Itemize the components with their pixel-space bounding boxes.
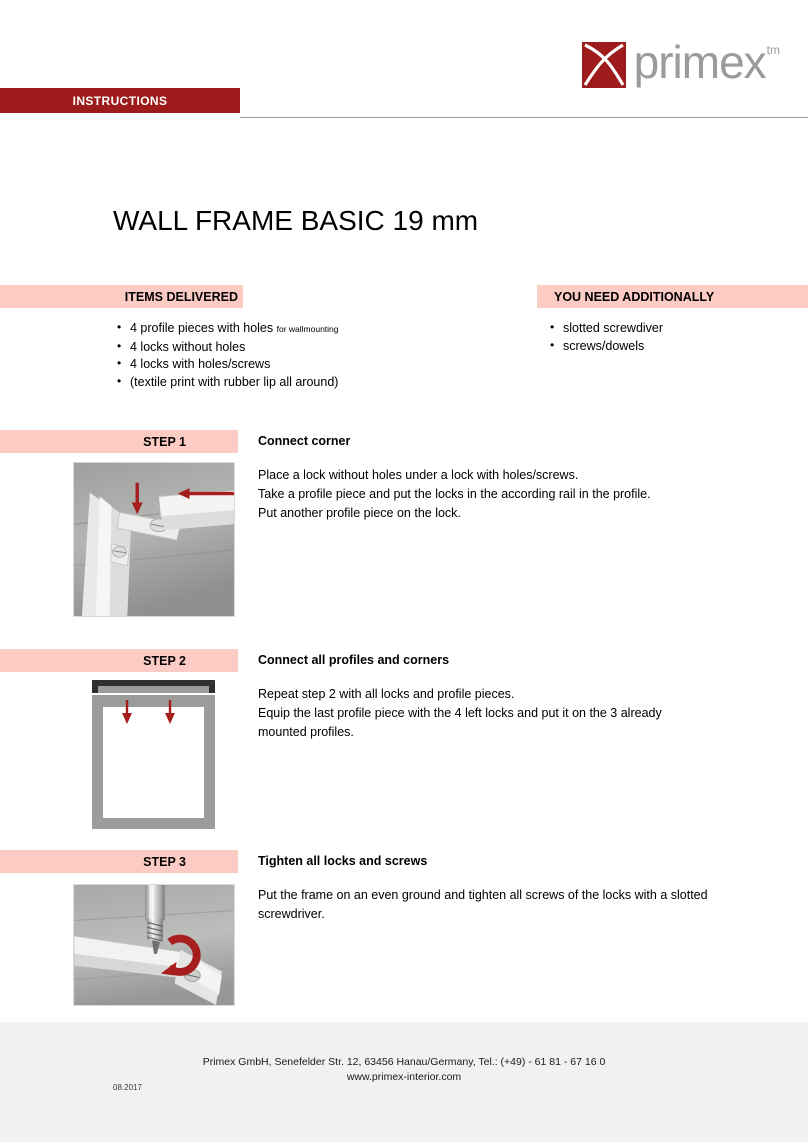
list-item-label: 4 locks without holes — [130, 340, 245, 354]
step-2-body: Repeat step 2 with all locks and profile… — [258, 685, 710, 742]
trademark-symbol: tm — [767, 44, 780, 56]
list-item-note: for wallmounting — [277, 324, 339, 334]
step-2-label: STEP 2 — [0, 649, 238, 672]
list-item: slotted screwdiver — [550, 320, 663, 338]
footer-address: Primex GmbH, Senefelder Str. 12, 63456 H… — [0, 1056, 808, 1068]
list-item-label: screws/dowels — [563, 339, 644, 353]
list-item: 4 profile pieces with holes for wallmoun… — [117, 320, 339, 339]
step-1-heading: Connect corner — [258, 434, 350, 448]
step-1-figure — [73, 462, 235, 617]
step-2-figure — [66, 676, 241, 831]
list-item: 4 locks without holes — [117, 339, 339, 357]
step-1-body: Place a lock without holes under a lock … — [258, 466, 710, 523]
list-item: screws/dowels — [550, 338, 663, 356]
you-need-additionally-list: slotted screwdiver screws/dowels — [550, 320, 663, 355]
list-item: (textile print with rubber lip all aroun… — [117, 374, 339, 392]
items-delivered-list: 4 profile pieces with holes for wallmoun… — [117, 320, 339, 391]
items-delivered-heading: ITEMS DELIVERED — [0, 285, 243, 308]
you-need-additionally-heading: YOU NEED ADDITIONALLY — [537, 285, 808, 308]
step-3-body: Put the frame on an even ground and tigh… — [258, 886, 710, 924]
step-3-label: STEP 3 — [0, 850, 238, 873]
list-item-label: slotted screwdiver — [563, 321, 663, 335]
list-item: 4 locks with holes/screws — [117, 356, 339, 374]
step-3-heading: Tighten all locks and screws — [258, 854, 427, 868]
primex-wordmark: primex — [634, 42, 766, 82]
footer-website: www.primex-interior.com — [0, 1071, 808, 1083]
page-title: WALL FRAME BASIC 19 mm — [113, 205, 478, 237]
header-divider — [240, 117, 808, 118]
instructions-banner: INSTRUCTIONS — [0, 88, 240, 113]
step-2-heading: Connect all profiles and corners — [258, 653, 449, 667]
primex-logo: primex tm — [582, 42, 780, 88]
footer-date: 08.2017 — [113, 1083, 142, 1092]
step-3-figure — [73, 884, 235, 1006]
step-1-label: STEP 1 — [0, 430, 238, 453]
list-item-label: 4 locks with holes/screws — [130, 357, 270, 371]
list-item-label: 4 profile pieces with holes — [130, 321, 273, 335]
list-item-label: (textile print with rubber lip all aroun… — [130, 375, 338, 389]
primex-x-mark-icon — [582, 42, 626, 88]
